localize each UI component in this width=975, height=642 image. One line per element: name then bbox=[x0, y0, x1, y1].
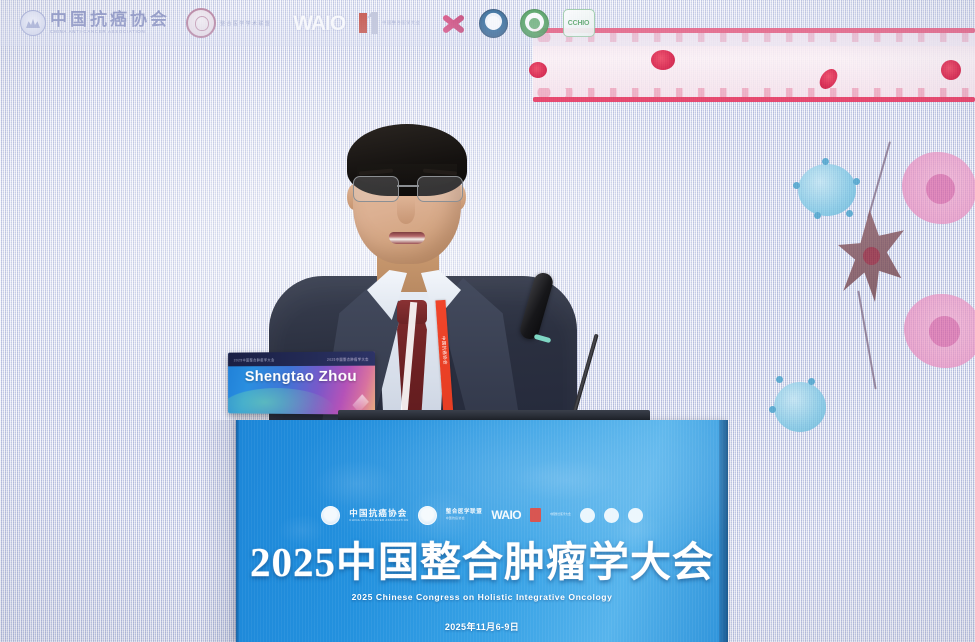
podium-left-edge bbox=[236, 420, 240, 642]
podium-partner-emblem-icon bbox=[418, 506, 437, 525]
waio-wordmark: WAIO bbox=[293, 13, 345, 34]
glasses-lens-left bbox=[353, 176, 399, 202]
podium-caa-emblem-icon bbox=[321, 506, 340, 525]
cchio-icon: CCHIO bbox=[563, 9, 595, 37]
podium-caa-chinese-name: 中国抗癌协会 bbox=[349, 509, 408, 518]
podium-floor-shadow bbox=[200, 420, 240, 642]
logo-x-mark bbox=[439, 11, 467, 35]
podium-waio-wordmark: WAIO bbox=[491, 509, 521, 521]
logo-cchio: CCHIO bbox=[563, 9, 595, 37]
logo-green-seal bbox=[520, 9, 549, 38]
caa-emblem-icon bbox=[20, 10, 46, 36]
podium-caa-english-name: CHINA ANTI-CANCER ASSOCIATION bbox=[349, 519, 408, 522]
glasses-lens-right bbox=[417, 176, 463, 202]
congress-date: 2025年11月6-9日 bbox=[236, 620, 728, 633]
blue-seal-icon bbox=[479, 9, 508, 38]
podium-right-edge bbox=[719, 420, 728, 642]
podium-front-panel: 中国抗癌协会 CHINA ANTI-CANCER ASSOCIATION 整合医… bbox=[236, 420, 728, 642]
logo-waio: WAIO bbox=[293, 13, 345, 34]
nose bbox=[397, 198, 415, 224]
caa-chinese-name: 中国抗癌协会 bbox=[50, 11, 170, 28]
podium-sheen bbox=[236, 420, 728, 642]
speaker-nameplate: 2025中国整合肿瘤学大会 2025中国整合肿瘤学大会 Shengtao Zho… bbox=[228, 351, 375, 414]
screenshot-root: 中国抗癌协会 CHINA ANTI-CANCER ASSOCIATION 整合医… bbox=[0, 0, 975, 642]
partner-circle-label: 整合医学学术联盟 bbox=[220, 20, 271, 27]
podium-seal-icon-2 bbox=[604, 508, 619, 523]
podium-flag-icon bbox=[530, 508, 541, 522]
nameplate-swoosh bbox=[228, 388, 336, 415]
speaker-name: Shengtao Zhou bbox=[228, 368, 375, 385]
nameplate-top-right-text: 2025中国整合肿瘤学大会 bbox=[327, 356, 369, 361]
podium-seal-icon-1 bbox=[580, 508, 595, 523]
podium-flag-label: 中国整合医学大会 bbox=[550, 513, 571, 516]
logo-china-anti-cancer-association: 中国抗癌协会 CHINA ANTI-CANCER ASSOCIATION bbox=[20, 10, 170, 36]
x-mark-icon bbox=[439, 11, 467, 35]
congress-subtitle: 2025 Chinese Congress on Holistic Integr… bbox=[236, 592, 728, 602]
caa-english-name: CHINA ANTI-CANCER ASSOCIATION bbox=[50, 30, 170, 34]
mouth bbox=[389, 232, 425, 244]
nameplate-top-left-text: 2025中国整合肿瘤学大会 bbox=[234, 357, 275, 362]
podium-partner-label: 整合医学联盟 bbox=[446, 510, 483, 516]
logo-blue-seal bbox=[479, 9, 508, 38]
podium-partner-sub: 中国抗癌协会 bbox=[446, 517, 483, 520]
flag-mark-icon bbox=[359, 12, 378, 34]
flag-mark-label: 中国整合医学大会 bbox=[382, 20, 420, 26]
logo-flag-mark: 中国整合医学大会 bbox=[359, 12, 420, 34]
glasses-bridge bbox=[397, 185, 419, 187]
congress-title: 2025中国整合肿瘤学大会 bbox=[236, 542, 728, 583]
nameplate-top-bar: 2025中国整合肿瘤学大会 2025中国整合肿瘤学大会 bbox=[228, 351, 375, 366]
lanyard-text: 中国抗癌协会 bbox=[440, 336, 448, 366]
sponsor-logo-banner: 中国抗癌协会 CHINA ANTI-CANCER ASSOCIATION 整合医… bbox=[0, 0, 975, 46]
partner-circle-icon bbox=[186, 8, 216, 38]
green-seal-icon bbox=[520, 9, 549, 38]
podium-seal-icon-3 bbox=[628, 508, 643, 523]
podium-sponsor-logos: 中国抗癌协会 CHINA ANTI-CANCER ASSOCIATION 整合医… bbox=[286, 502, 678, 528]
logo-partner-circle: 整合医学学术联盟 bbox=[186, 8, 271, 38]
